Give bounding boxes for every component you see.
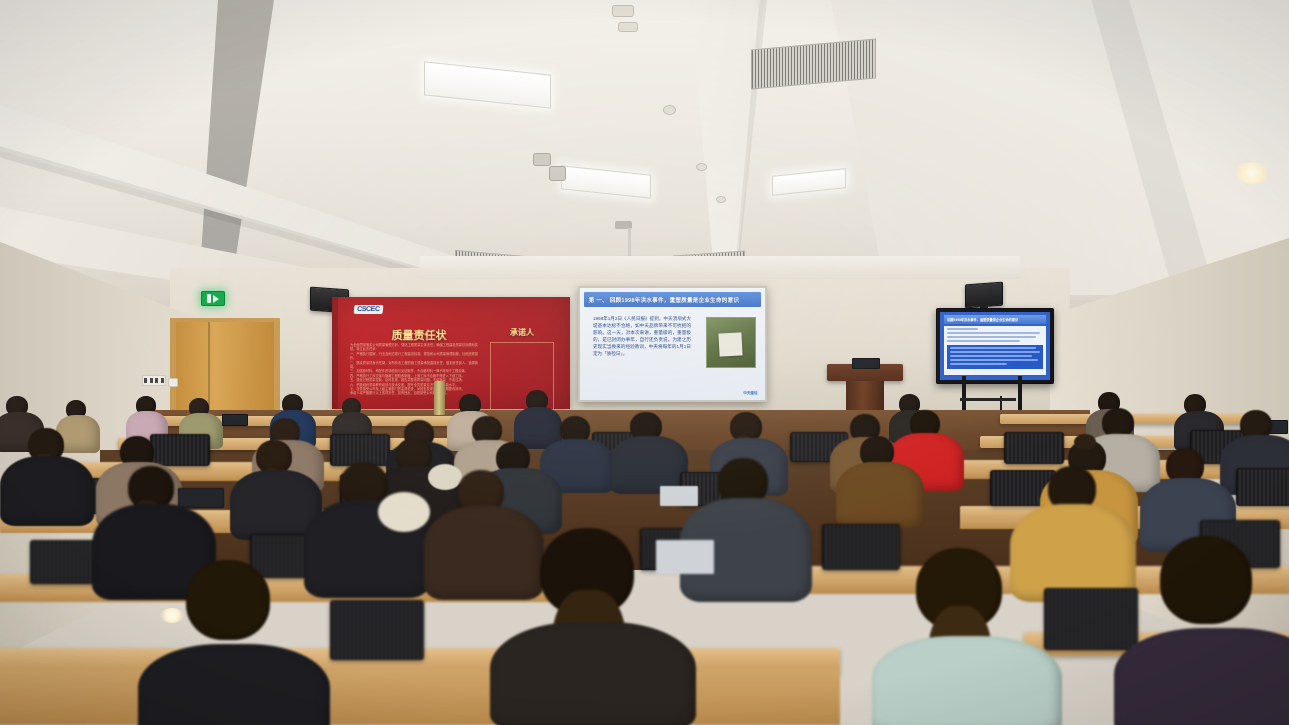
slide-photo-subject — [719, 332, 743, 356]
banner-body-text: 为全面贯彻落实公司质量管理方针，强化工程质量主体责任，确保工程建设质量目标顺利实… — [350, 343, 478, 405]
desk-row-1-apron — [0, 670, 840, 725]
chair-r4-1[interactable] — [150, 434, 210, 466]
wall-tv-display: 回顾1998年洪水事件，重塑质量是企业生命的意识 — [936, 308, 1054, 384]
slide-title-bar: 第 一、 回顾1998年洪水事件，重塑质量是企业生命的意识 — [584, 292, 762, 307]
conference-room-photo: CSCEC 质量责任状 承诺人 为全面贯彻落实公司质量管理方针，强化工程质量主体… — [0, 0, 1289, 725]
exit-sign-figure-icon — [207, 294, 211, 303]
attendee-head — [186, 560, 270, 640]
attendee-head — [1160, 536, 1252, 624]
banner-body-line: 一、严格执行国家、行业及地方现行工程建设标准、规范和公司质量管理制度，杜绝违规操… — [350, 352, 478, 361]
wall-header-beam — [420, 256, 1020, 279]
attendee-fur-collar — [428, 464, 462, 490]
smoke-detector-1 — [612, 5, 634, 17]
attendee-hair-bun — [1074, 434, 1096, 450]
ceiling-speaker-2 — [549, 166, 566, 181]
laptop-far-1 — [222, 414, 248, 426]
slide-body-text: 1998年1月2日《人民日报》提到，中天溃坝式大堤基本达标不合格，如中天品牌带来… — [593, 315, 691, 382]
chair-r3-5[interactable] — [1236, 468, 1289, 506]
chair-r1-2[interactable] — [1044, 588, 1138, 650]
tv-text-line — [947, 336, 1036, 338]
banner-body-line: 承诺人将严格履行以上各项责任，如有违反，自愿接受公司相关处罚。 — [350, 391, 478, 395]
laptop-screen-r2-1 — [656, 540, 714, 574]
slide-photo-image — [706, 317, 756, 368]
tv-text-line — [947, 328, 977, 330]
tv-text-line — [950, 355, 1032, 357]
tv-text-line — [950, 363, 1007, 365]
chair-r1-1[interactable] — [330, 600, 424, 660]
laptop-r3-1 — [178, 488, 224, 508]
light-switch-panel[interactable] — [142, 375, 166, 386]
smoke-detector-4 — [696, 163, 707, 171]
exit-sign-arrow-icon — [213, 295, 219, 303]
slide-footer-logo: 中天建设 — [743, 391, 757, 396]
attendee-torso — [0, 456, 94, 526]
lectern-control-monitor[interactable] — [852, 358, 880, 369]
smoke-detector-3 — [663, 105, 676, 115]
projection-screen: 第 一、 回顾1998年洪水事件，重塑质量是企业生命的意识 1998年1月2日《… — [580, 288, 765, 400]
attendee-torso — [138, 644, 330, 725]
tv-highlighted-block — [947, 345, 1042, 369]
attendee-torso — [490, 622, 696, 725]
tv-text-line — [950, 347, 1036, 349]
projection-screen-frame: 第 一、 回顾1998年洪水事件，重塑质量是企业生命的意识 1998年1月2日《… — [578, 286, 767, 402]
banner-body-line: 五、强化过程质量控制，及时发现、报告并整改质量问题，不留隐患、不走过场。 — [350, 378, 478, 382]
banner-signer-label: 承诺人 — [482, 327, 562, 338]
laptop-screen-r3-1 — [660, 486, 698, 506]
tv-slide-title-text: 回顾1998年洪水事件，重塑质量是企业生命的意识 — [947, 317, 1018, 322]
tv-text-line — [950, 359, 1038, 361]
thermos-bottle — [434, 381, 445, 415]
tv-screen: 回顾1998年洪水事件，重塑质量是企业生命的意识 — [940, 312, 1050, 380]
smoke-detector-2 — [618, 22, 638, 32]
wall-outlet[interactable] — [168, 378, 178, 387]
tv-slide-title-bar: 回顾1998年洪水事件，重塑质量是企业生命的意识 — [944, 315, 1045, 324]
attendee-torso — [872, 636, 1062, 725]
tv-cart-shelf — [960, 398, 1016, 401]
banner-title: 质量责任状 — [354, 327, 484, 343]
banner-body-line: 为全面贯彻落实公司质量管理方针，强化工程质量主体责任，确保工程建设质量目标顺利实… — [350, 343, 478, 352]
ceiling-downlight-1 — [1234, 162, 1270, 184]
tv-text-line — [947, 332, 1040, 334]
attendee-torso — [836, 462, 924, 528]
tv-text-line — [950, 351, 1039, 353]
tv-document-area — [944, 326, 1045, 375]
attendee-torso — [424, 506, 544, 600]
tv-text-line — [947, 340, 1020, 342]
ceiling-plane-right — [830, 0, 1289, 295]
ceiling-speaker-1 — [533, 153, 551, 166]
attendee-torso — [1114, 628, 1289, 725]
ceiling-downlight-9 — [160, 608, 184, 623]
projector-drop-pole — [628, 228, 631, 258]
attendee-fur-hood — [378, 492, 430, 532]
banner-left-edge-shadow — [332, 297, 338, 409]
chair-r4-5[interactable] — [1004, 432, 1064, 464]
emergency-exit-sign — [201, 291, 225, 306]
chair-r2-4[interactable] — [822, 524, 900, 570]
slide-title-text: 第 一、 回顾1998年洪水事件，重塑质量是企业生命的意识 — [589, 296, 740, 304]
smoke-detector-5 — [716, 196, 726, 203]
banner-company-logo: CSCEC — [354, 305, 383, 314]
